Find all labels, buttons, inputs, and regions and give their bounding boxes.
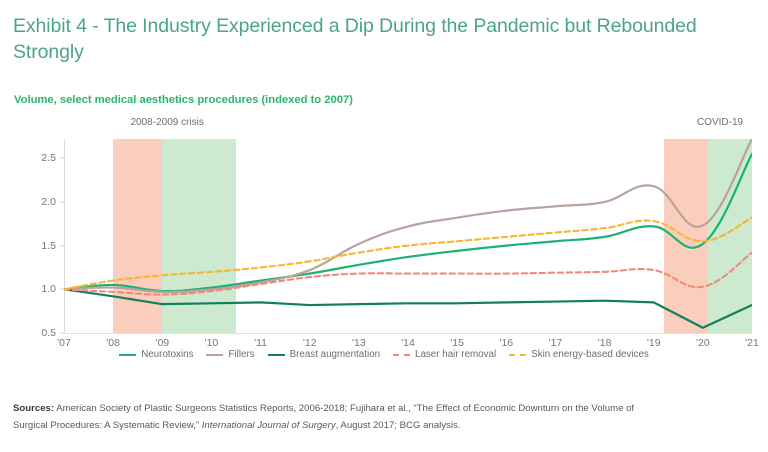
legend-swatch-icon xyxy=(206,354,223,356)
x-tick-label: '19 xyxy=(647,337,661,349)
band-label-0: 2008-2009 crisis xyxy=(131,117,204,128)
y-tick-mark xyxy=(60,333,64,334)
y-tick-mark xyxy=(60,245,64,246)
page-title: Exhibit 4 - The Industry Experienced a D… xyxy=(13,13,713,65)
x-tick-label: '07 xyxy=(57,337,71,349)
x-tick-label: '12 xyxy=(303,337,317,349)
line-laser-hair-removal xyxy=(64,253,752,295)
legend-item-breast-augmentation[interactable]: Breast augmentation xyxy=(268,349,380,360)
band-label-1: COVID-19 xyxy=(697,117,743,128)
chart-legend: NeurotoxinsFillersBreast augmentationLas… xyxy=(0,349,768,360)
legend-label: Fillers xyxy=(228,349,254,360)
chart-container: 0.51.01.52.02.5 '07'08'09'10'11'12'13'14… xyxy=(0,115,768,347)
x-axis-line xyxy=(64,333,752,334)
sources-note: Sources: American Society of Plastic Sur… xyxy=(13,400,758,434)
x-tick-label: '13 xyxy=(352,337,366,349)
line-skin-energy-based-devices xyxy=(64,218,752,290)
x-tick-label: '09 xyxy=(155,337,169,349)
x-tick-label: '10 xyxy=(205,337,219,349)
legend-item-neurotoxins[interactable]: Neurotoxins xyxy=(119,349,193,360)
x-tick-label: '20 xyxy=(696,337,710,349)
plot-inner xyxy=(64,139,752,333)
x-tick-label: '16 xyxy=(499,337,513,349)
legend-swatch-icon xyxy=(393,354,410,356)
legend-label: Breast augmentation xyxy=(290,349,380,360)
sources-line2c: , August 2017; BCG analysis. xyxy=(336,420,461,431)
legend-swatch-icon xyxy=(119,354,136,356)
x-tick-label: '15 xyxy=(450,337,464,349)
y-tick-mark xyxy=(60,289,64,290)
legend-item-skin-energy-based-devices[interactable]: Skin energy-based devices xyxy=(509,349,649,360)
sources-label: Sources: xyxy=(13,403,54,414)
x-tick-label: '11 xyxy=(254,337,267,349)
line-neurotoxins xyxy=(64,154,752,291)
chart-subtitle: Volume, select medical aesthetics proced… xyxy=(14,94,353,106)
sources-line1: American Society of Plastic Surgeons Sta… xyxy=(54,403,634,414)
legend-swatch-icon xyxy=(268,354,285,356)
y-tick-mark xyxy=(60,201,64,202)
exhibit-page: Exhibit 4 - The Industry Experienced a D… xyxy=(0,0,768,452)
legend-label: Neurotoxins xyxy=(141,349,193,360)
legend-item-fillers[interactable]: Fillers xyxy=(206,349,254,360)
x-tick-label: '17 xyxy=(549,337,563,349)
legend-label: Skin energy-based devices xyxy=(531,349,649,360)
legend-item-laser-hair-removal[interactable]: Laser hair removal xyxy=(393,349,496,360)
x-tick-label: '08 xyxy=(106,337,120,349)
plot-area: 0.51.01.52.02.5 xyxy=(64,139,752,333)
legend-swatch-icon xyxy=(509,354,526,356)
series-lines xyxy=(64,139,752,333)
y-tick-mark xyxy=(60,158,64,159)
x-tick-label: '14 xyxy=(401,337,415,349)
x-tick-label: '21 xyxy=(745,337,759,349)
sources-journal: International Journal of Surgery xyxy=(202,420,336,431)
sources-line2a: Surgical Procedures: A Systematic Review… xyxy=(13,420,202,431)
x-tick-label: '18 xyxy=(598,337,612,349)
legend-label: Laser hair removal xyxy=(415,349,496,360)
